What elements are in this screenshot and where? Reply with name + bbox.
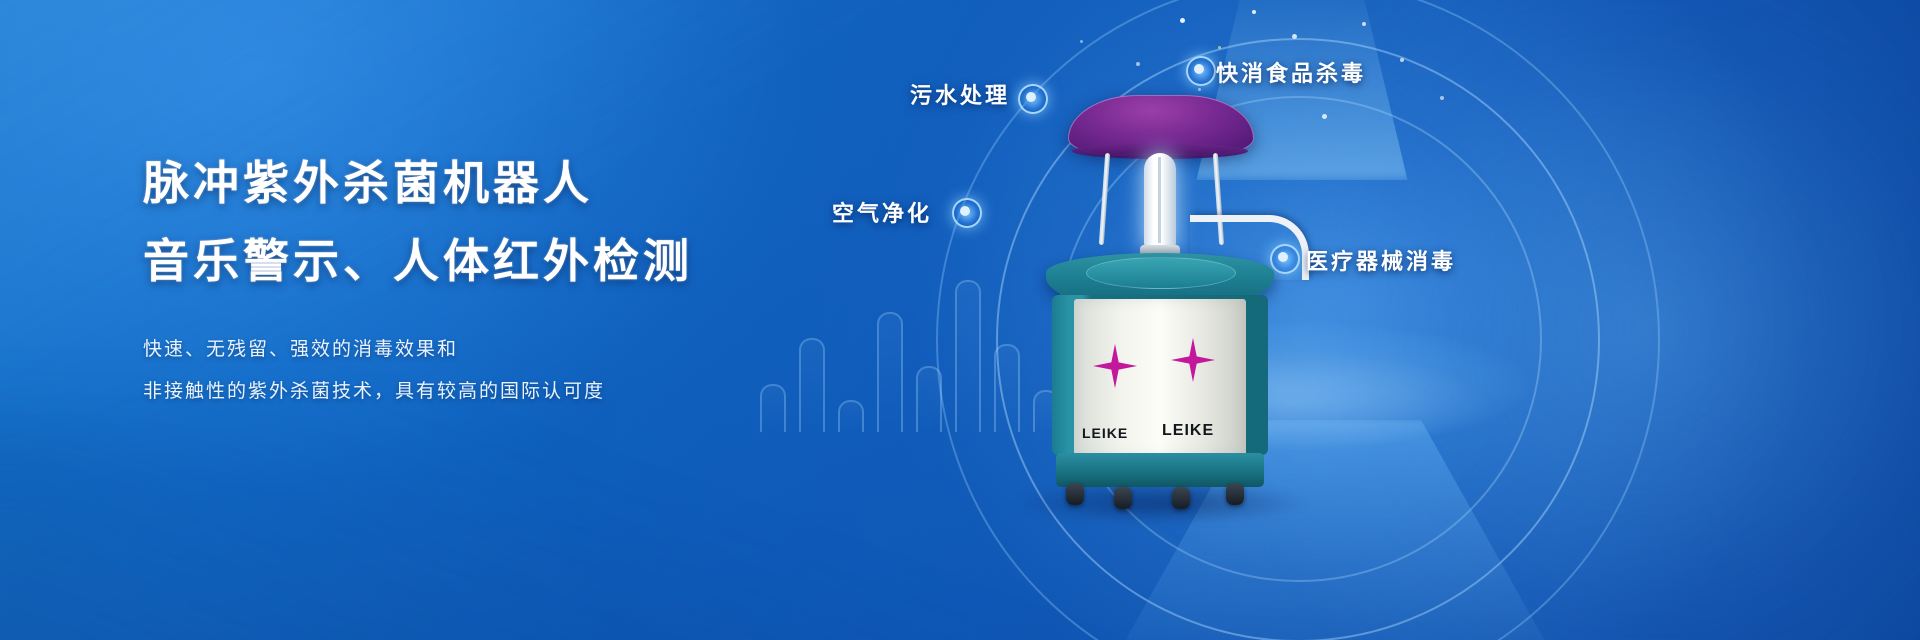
feature-label-wastewater: 污水处理 — [910, 78, 1010, 110]
subtitle-block: 快速、无残留、强效的消毒效果和 非接触性的紫外杀菌技术，具有较高的国际认可度 — [143, 328, 843, 412]
subtitle-line-2: 非接触性的紫外杀菌技术，具有较高的国际认可度 — [143, 370, 843, 412]
particle-dot — [1252, 10, 1256, 14]
node-marker-food[interactable] — [1186, 56, 1216, 86]
feature-label-medical: 医疗器械消毒 — [1306, 244, 1456, 276]
wave-bar — [877, 312, 903, 432]
lamp-support-rod-left — [1099, 153, 1110, 245]
particle-dot — [1218, 46, 1221, 49]
particle-dot — [1440, 96, 1444, 100]
brand-name-left: LEIKE — [1082, 425, 1128, 441]
top-deck-inset — [1086, 257, 1236, 289]
base-chassis — [1056, 453, 1264, 487]
headline-line-2: 音乐警示、人体红外检测 — [143, 228, 843, 294]
wave-bar — [760, 384, 786, 432]
node-marker-air[interactable] — [952, 198, 982, 228]
particle-dot — [1362, 22, 1366, 26]
headline-text-block: 脉冲紫外杀菌机器人 音乐警示、人体红外检测 快速、无残留、强效的消毒效果和 非接… — [143, 150, 843, 412]
caster-wheel — [1066, 483, 1084, 505]
feature-label-food: 快消食品杀毒 — [1216, 56, 1366, 88]
particle-dot — [1400, 58, 1404, 62]
caster-wheel — [1226, 483, 1244, 505]
wave-bar — [838, 400, 864, 432]
particle-dot — [1322, 114, 1327, 119]
brand-star-icon — [1092, 343, 1138, 389]
brand-name-right: LEIKE — [1162, 422, 1214, 440]
feature-label-air: 空气净化 — [832, 196, 932, 228]
particle-dot — [1136, 62, 1140, 66]
wave-bar — [799, 338, 825, 432]
promo-banner: 脉冲紫外杀菌机器人 音乐警示、人体红外检测 快速、无残留、强效的消毒效果和 非接… — [0, 0, 1920, 640]
particle-dot — [1080, 40, 1083, 43]
uv-lamp-tube-seam — [1158, 157, 1161, 243]
subtitle-line-1: 快速、无残留、强效的消毒效果和 — [143, 328, 843, 370]
caster-wheel — [1172, 487, 1190, 509]
particle-dot — [1198, 88, 1201, 91]
product-scene: LEIKE LEIKE 污水处理 快消食品杀毒 空气净化 医疗器械消毒 — [930, 0, 1920, 640]
particle-dot — [1180, 18, 1185, 23]
caster-wheel — [1114, 487, 1132, 509]
brand-star-icon — [1170, 337, 1216, 383]
uv-disinfection-robot: LEIKE LEIKE — [1040, 95, 1280, 495]
headline-line-1: 脉冲紫外杀菌机器人 — [143, 150, 843, 216]
particle-dot — [1292, 34, 1297, 39]
